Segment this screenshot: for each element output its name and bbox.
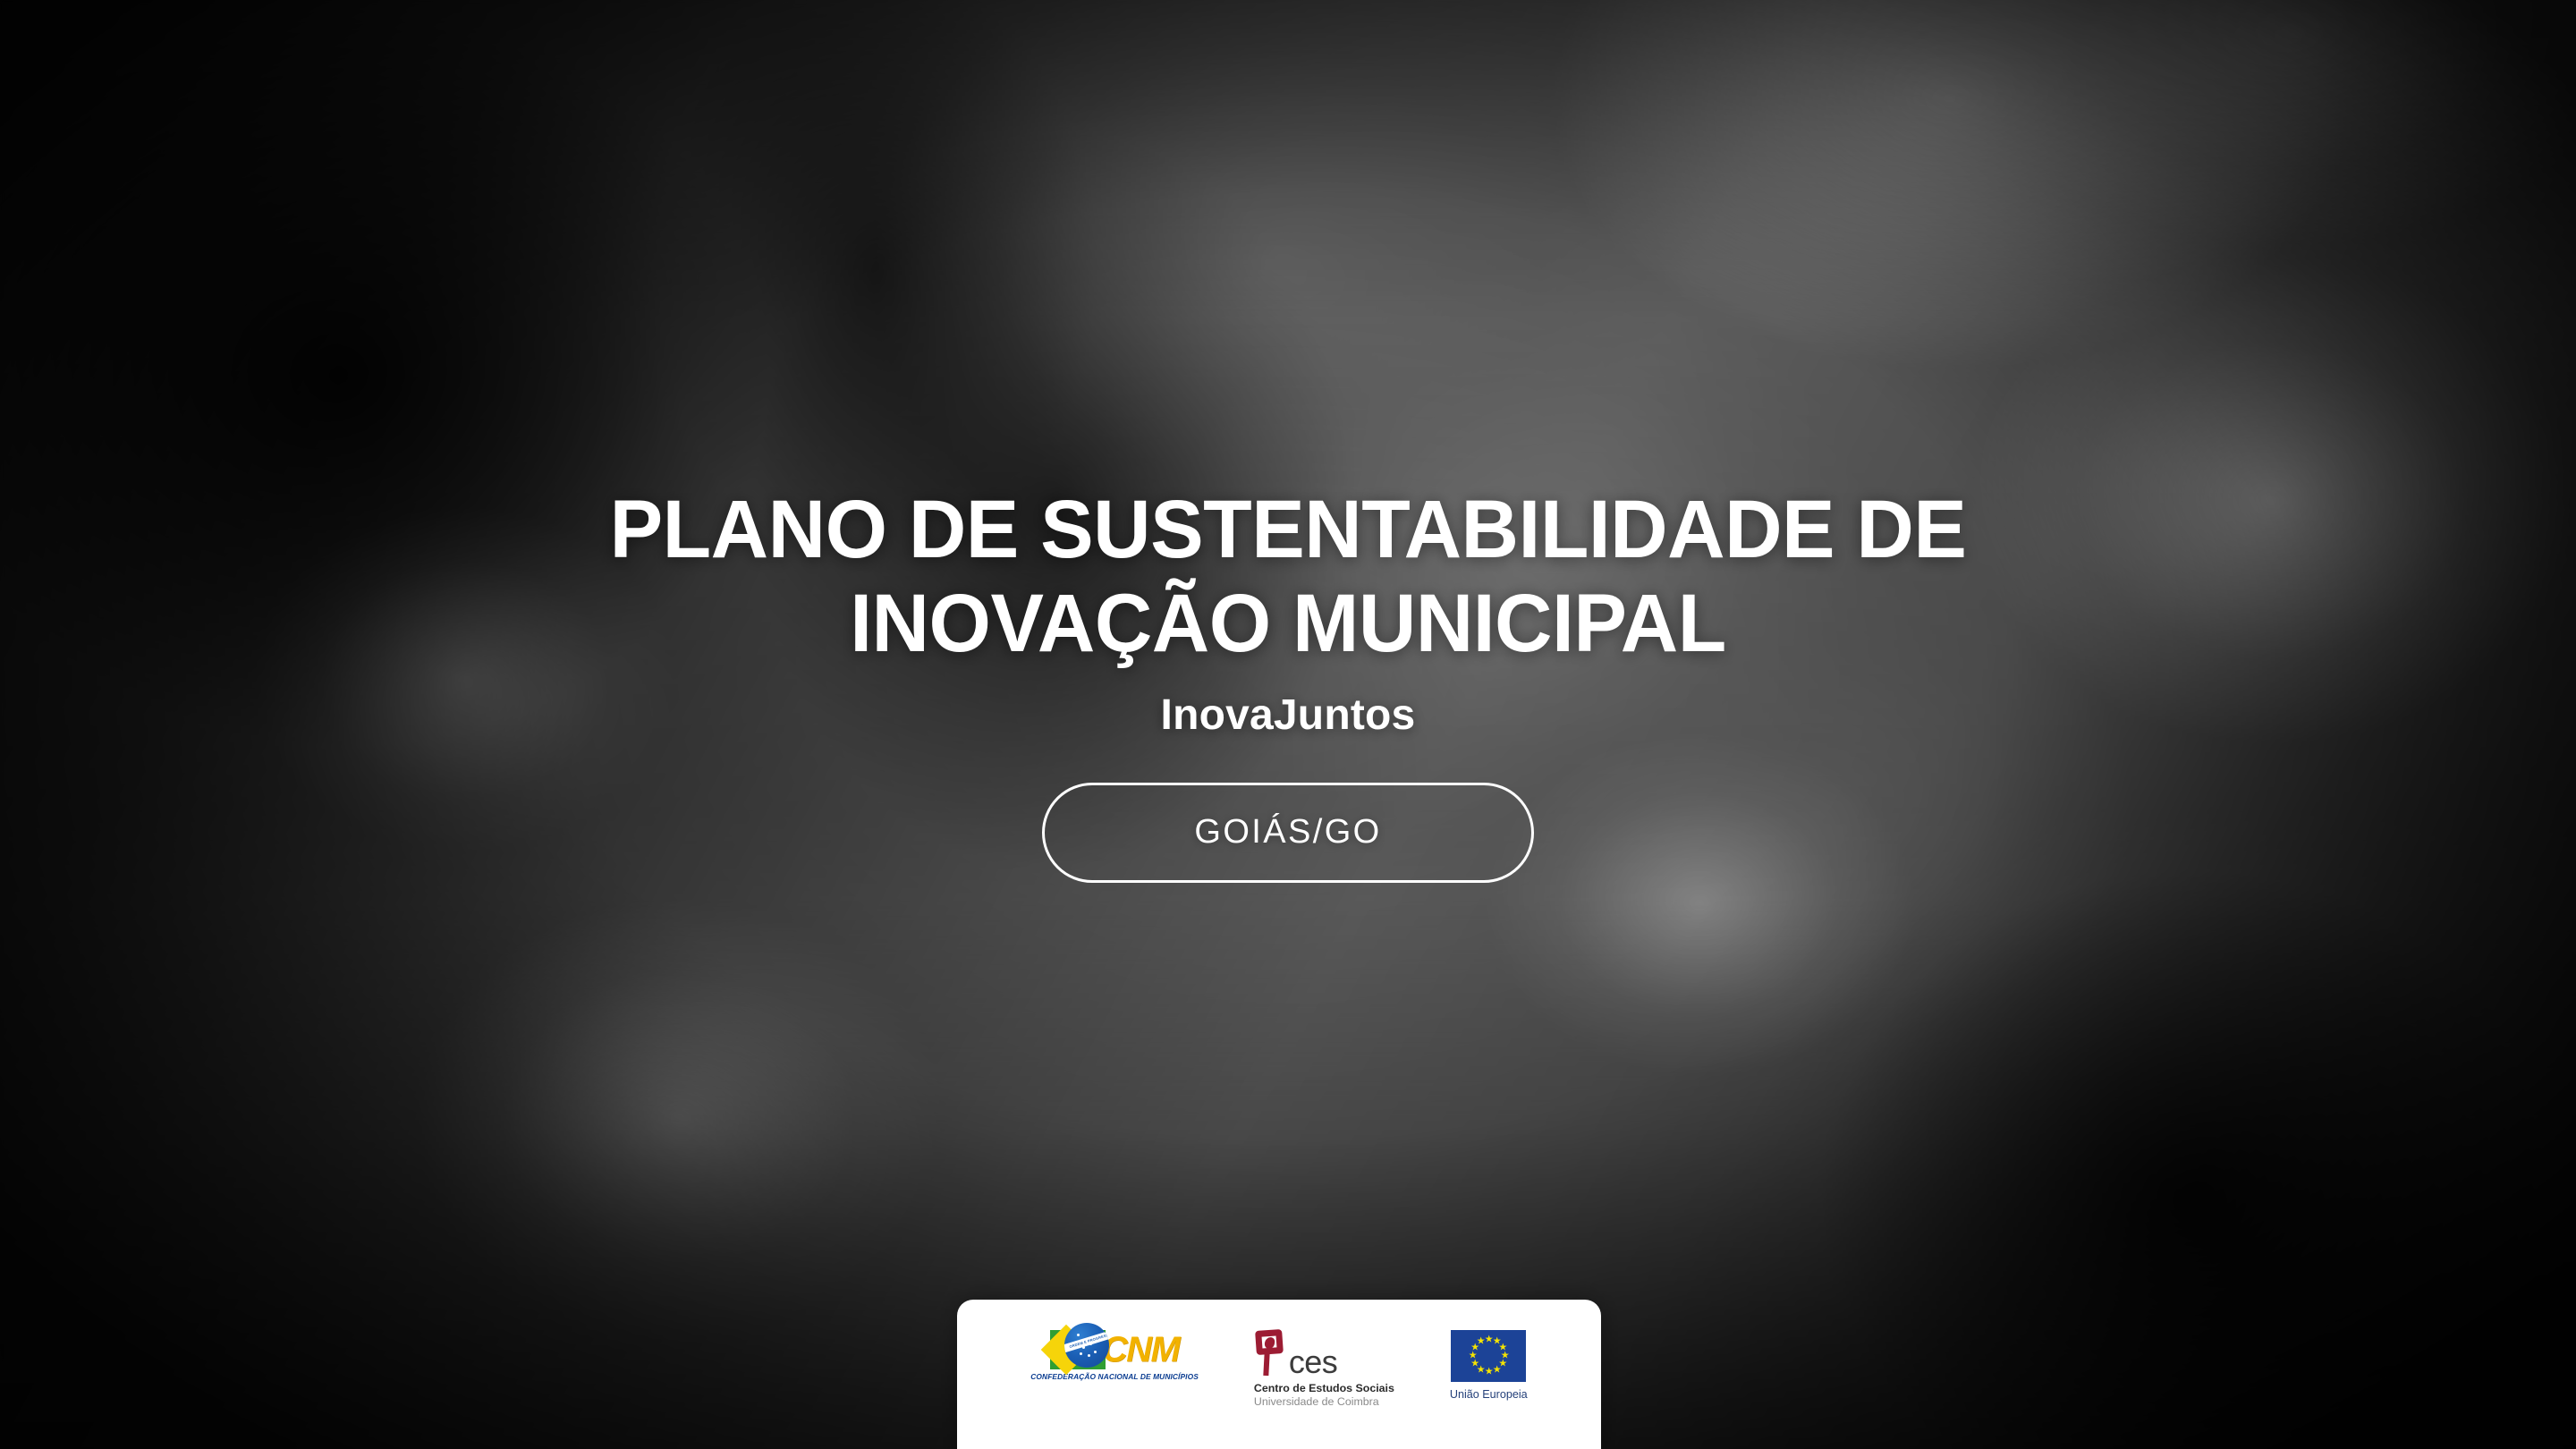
logo-ces: ces Centro de Estudos Sociais Universida…: [1254, 1330, 1394, 1408]
cnm-wordmark: CNM: [1102, 1332, 1179, 1368]
cnm-band-text: ORDEM E PROGRESSO: [1064, 1327, 1109, 1353]
project-subtitle: InovaJuntos: [1161, 691, 1416, 740]
partner-logos-card: ORDEM E PROGRESSO CNM CONFEDERAÇÃO NACIO…: [957, 1300, 1601, 1449]
eu-star-icon: ★: [1485, 1336, 1493, 1344]
eu-star-icon: ★: [1477, 1338, 1485, 1346]
location-badge[interactable]: GOIÁS/GO: [1042, 783, 1534, 883]
page-title: PLANO DE SUSTENTABILIDADE DE INOVAÇÃO MU…: [464, 483, 2113, 671]
presentation-slide: PLANO DE SUSTENTABILIDADE DE INOVAÇÃO MU…: [0, 0, 2576, 1449]
logo-cnm: ORDEM E PROGRESSO CNM CONFEDERAÇÃO NACIO…: [1030, 1330, 1199, 1381]
ces-wordmark: ces: [1289, 1347, 1337, 1377]
ces-mark-icon: [1254, 1330, 1284, 1377]
ces-institution-name: Centro de Estudos Sociais: [1254, 1382, 1394, 1394]
cnm-tagline: CONFEDERAÇÃO NACIONAL DE MUNICÍPIOS: [1030, 1372, 1199, 1381]
cnm-mark-icon: ORDEM E PROGRESSO CNM: [1050, 1330, 1179, 1369]
hero-block: PLANO DE SUSTENTABILIDADE DE INOVAÇÃO MU…: [0, 483, 2576, 883]
globe-icon: ORDEM E PROGRESSO: [1064, 1323, 1109, 1368]
eu-star-icon: ★: [1485, 1368, 1493, 1377]
eu-star-icon: ★: [1493, 1366, 1501, 1374]
eu-star-icon: ★: [1470, 1360, 1479, 1368]
logo-european-union: ★★★★★★★★★★★★ União Europeia: [1450, 1330, 1528, 1401]
ces-university-name: Universidade de Coimbra: [1254, 1395, 1379, 1408]
brazil-flag-icon: ORDEM E PROGRESSO: [1050, 1330, 1106, 1369]
eu-flag-icon: ★★★★★★★★★★★★: [1451, 1330, 1526, 1382]
eu-star-icon: ★: [1469, 1352, 1477, 1360]
eu-caption: União Europeia: [1450, 1388, 1528, 1401]
